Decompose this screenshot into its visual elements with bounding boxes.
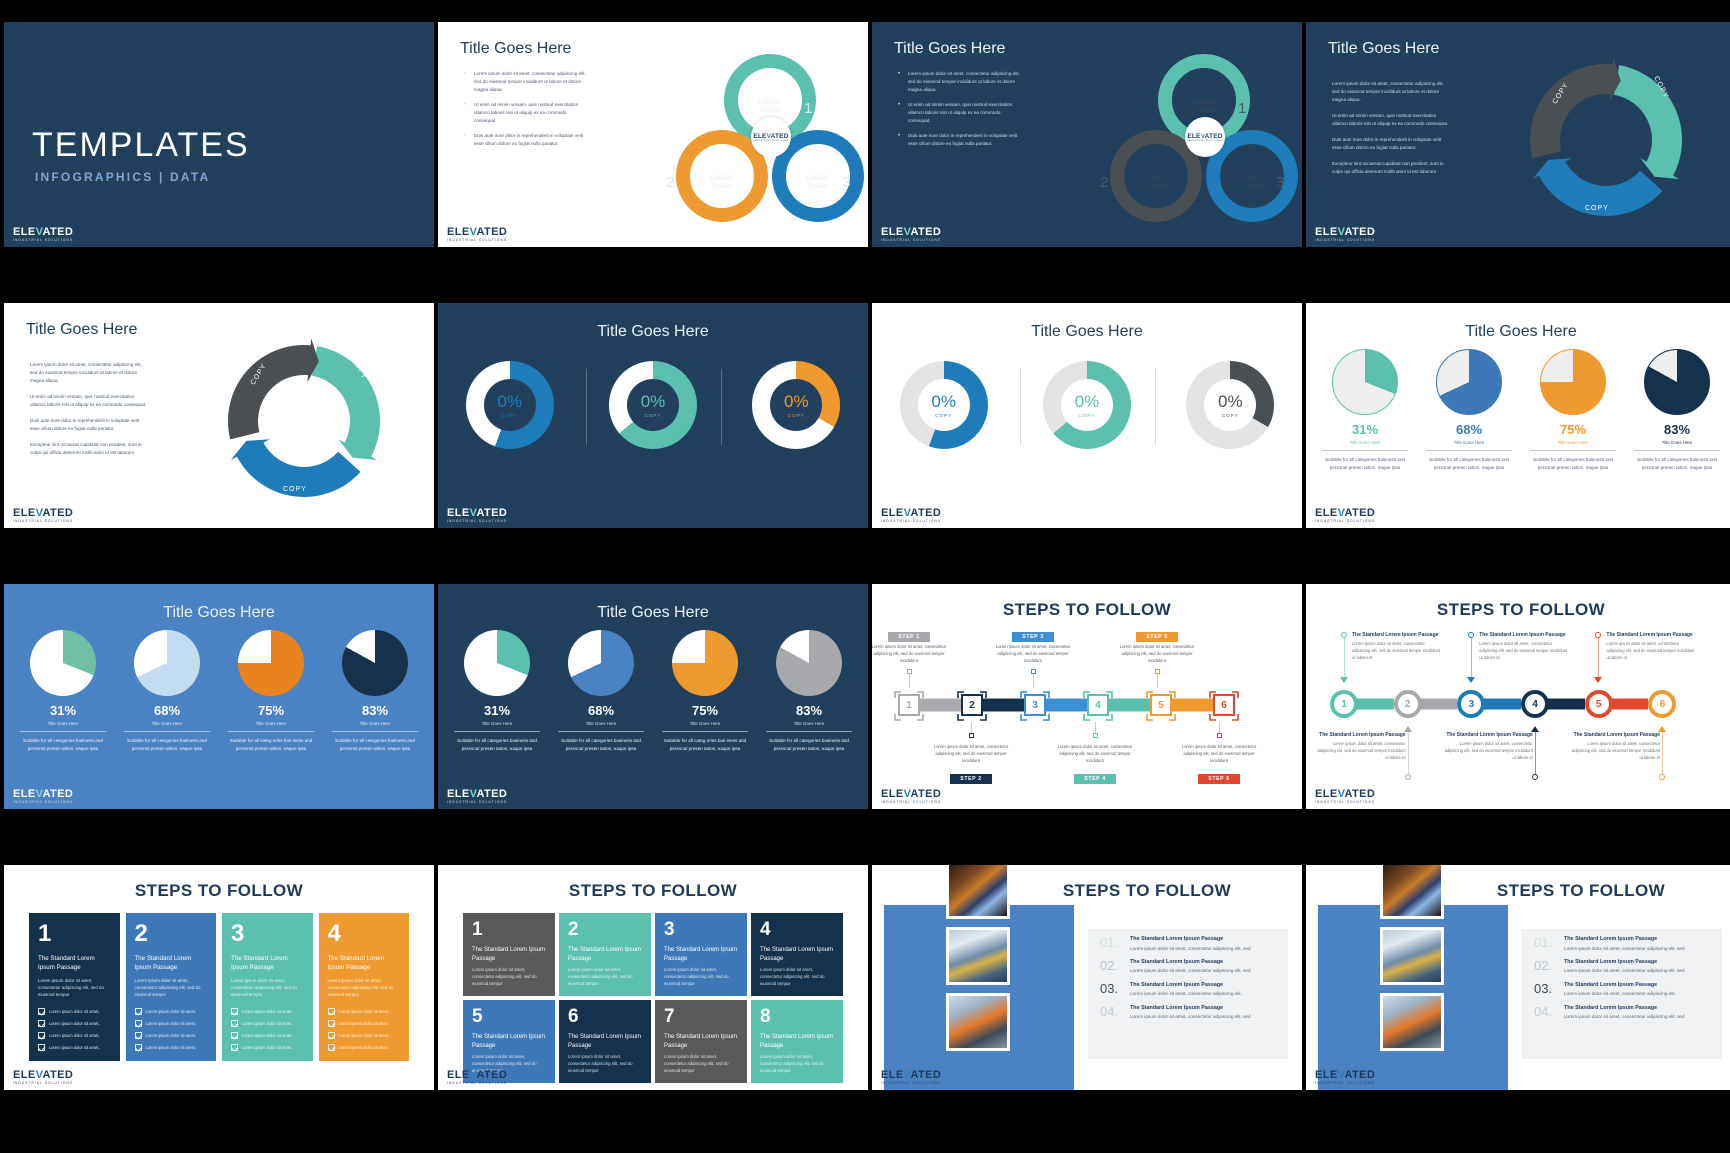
logo-tagline: INDUSTRIAL SOLUTIONS: [1315, 1082, 1375, 1085]
chain-number-4[interactable]: 4: [1087, 694, 1109, 716]
chain-link-2[interactable]: 2: [961, 693, 1024, 717]
step-dot-6: [1217, 733, 1222, 738]
block-heading-2: The Standard Lorem Ipsum Passage: [135, 955, 208, 973]
photo-step-row-2[interactable]: 02. The Standard Lorem Ipsum Passage Lor…: [1522, 952, 1722, 975]
pie-chart-1[interactable]: [464, 630, 530, 696]
pie-desc-3: Suitable for all categ ories bus iness a…: [222, 737, 320, 754]
checklist-3: Lorem ipsum dolor sit amet, Lorem ipsum …: [231, 1008, 304, 1051]
photo-step-row-3[interactable]: 03. The Standard Lorem Ipsum Passage Lor…: [1088, 975, 1288, 998]
slide-photo-steps-a[interactable]: STEPS TO FOLLOW 01. The Standard Lorem I…: [872, 865, 1302, 1090]
pie-percent-1: 31%: [14, 703, 112, 718]
step-block-8[interactable]: 8 The Standard Lorem Ipsum Passage Lorem…: [751, 1000, 843, 1083]
donut-chart-2[interactable]: 0% COPY: [1043, 361, 1131, 449]
donut-caption-2: COPY: [644, 413, 661, 418]
pie-chart-3[interactable]: [1540, 349, 1606, 415]
checklist-label-3: Lorem ipsum dolor sit amet,: [146, 1033, 197, 1038]
logo-tagline: INDUSTRIAL SOLUTIONS: [13, 239, 73, 242]
donut-caption-2: COPY: [1078, 413, 1095, 418]
pie-chart-2[interactable]: [134, 630, 200, 696]
chain-link-1[interactable]: 1: [898, 693, 961, 717]
checklist-item-1[interactable]: Lorem ipsum dolor sit amet,: [38, 1008, 111, 1015]
step-block-3[interactable]: 3 The Standard Lorem Ipsum Passage Lorem…: [222, 913, 313, 1061]
slide-venn-color[interactable]: Title Goes Here Lorem ipsum dolor sit am…: [438, 22, 868, 247]
slide-venn-mono[interactable]: Title Goes Here Lorem ipsum dolor sit am…: [872, 22, 1302, 247]
bullet-item-3: Duis aute irure dolor in reprehenderit i…: [464, 132, 589, 148]
timeline-number-5[interactable]: 5: [1585, 690, 1613, 718]
block-body-3: Lorem ipsum dolor sit amet, consectetur …: [231, 977, 304, 998]
pie-desc-1: Suitable for all categories business and…: [448, 737, 546, 754]
pie-cell-2[interactable]: 68% Title Goes Here Suitable for all cat…: [1420, 349, 1518, 473]
check-icon[interactable]: [231, 1032, 238, 1039]
donut-chart-3[interactable]: 0% COPY: [752, 361, 840, 449]
cycle-segment-3[interactable]: [228, 338, 319, 439]
step-tag-6: STEP 6: [1198, 774, 1240, 784]
pie-chart-1[interactable]: [30, 630, 96, 696]
donut-cell-3[interactable]: 0% COPY: [1176, 361, 1284, 449]
venn-ring-number-2: 2: [1100, 174, 1108, 191]
slide-pies-navy[interactable]: Title Goes Here 31% Title Goes Here Suit…: [438, 584, 868, 809]
logo-tagline: INDUSTRIAL SOLUTIONS: [1315, 239, 1375, 242]
step-body-6: Lorem ipsum dolor sit amet, consectetur …: [1178, 743, 1260, 764]
pie-cell-3[interactable]: 75% Title Goes Here Suitable for all cat…: [222, 630, 320, 754]
photo-step-number-1: 01.: [1100, 936, 1121, 952]
pie-cell-1[interactable]: 31% Title Goes Here Suitable for all cat…: [1316, 349, 1414, 473]
checklist-label-3: Lorem ipsum dolor sit amet,: [49, 1033, 100, 1038]
check-icon[interactable]: [231, 1008, 238, 1015]
photo-step-row-4[interactable]: 04. The Standard Lorem Ipsum Passage Lor…: [1522, 998, 1722, 1021]
elevated-logo: ELEVATED INDUSTRIAL SOLUTIONS: [13, 227, 73, 242]
donut-center: 0% COPY: [770, 379, 822, 431]
donut-chart-1[interactable]: 0% COPY: [466, 361, 554, 449]
checklist-item-4[interactable]: Lorem ipsum dolor sit amet,: [38, 1044, 111, 1051]
logo-check-icon: V: [904, 226, 911, 238]
pie-title-3: Title Goes Here: [656, 721, 754, 726]
block-heading-2: The Standard Lorem Ipsum Passage: [568, 946, 642, 963]
bullet-item-2: Ut enim ad minim veniam, quis nostrud ex…: [464, 101, 589, 125]
donut-center: 0% COPY: [1204, 379, 1256, 431]
pie-cell-3[interactable]: 75% Title Goes Here Suitable for all cat…: [1524, 349, 1622, 473]
elevated-logo: ELEVATED INDUSTRIAL SOLUTIONS: [881, 508, 941, 523]
timeline-stem-5: [1598, 637, 1599, 677]
checklist-label-3: Lorem ipsum dolor sit amet,: [242, 1033, 293, 1038]
logo-check-icon: V: [1338, 226, 1345, 238]
step-tag-1: STEP 1: [888, 632, 930, 642]
block-body-4: Lorem ipsum dolor sit amet, consectetur …: [328, 977, 401, 998]
photo-step-row-2[interactable]: 02. The Standard Lorem Ipsum Passage Lor…: [1088, 952, 1288, 975]
pie-cell-4[interactable]: 83% Title Goes Here Suitable for all cat…: [1628, 349, 1726, 473]
block-number-2: 2: [568, 921, 642, 939]
page-subtitle: INFOGRAPHICS | DATA: [35, 170, 210, 184]
page-title: Title Goes Here: [872, 323, 1302, 341]
photo-step-heading-3: The Standard Lorem Ipsum Passage: [1130, 982, 1242, 989]
pie-chart-4[interactable]: [342, 630, 408, 696]
chain-number-2[interactable]: 2: [961, 694, 983, 716]
page-title: Title Goes Here: [438, 323, 868, 341]
photo-step-heading-4: The Standard Lorem Ipsum Passage: [1564, 1005, 1685, 1012]
slide-donuts-dark[interactable]: Title Goes Here 0% COPY 0% COPY 0% COPY: [438, 303, 868, 528]
slide-blocks-8[interactable]: STEPS TO FOLLOW 1 The Standard Lorem Ips…: [438, 865, 868, 1090]
timeline-arrow-1: [1340, 677, 1348, 683]
donut-cell-2[interactable]: 0% COPY: [1033, 361, 1141, 449]
pie-title-1: Title Goes Here: [448, 721, 546, 726]
timeline-stem-4: [1535, 732, 1536, 774]
photo-step-number-2: 02.: [1100, 959, 1121, 975]
photo-step-body-2: Lorem ipsum dolor sit amet, consectetur …: [1564, 968, 1685, 974]
logo-check-icon: V: [1338, 507, 1345, 519]
slide-photo-steps-b[interactable]: STEPS TO FOLLOW 01. The Standard Lorem I…: [1306, 865, 1730, 1090]
pie-percent-4: 83%: [326, 703, 424, 718]
logo-wordmark: ELEVATED: [13, 789, 73, 800]
bullet-item-1: Lorem ipsum dolor sit amet, consectetur …: [464, 70, 589, 94]
photo-step-row-1[interactable]: 01. The Standard Lorem Ipsum Passage Lor…: [1522, 929, 1722, 952]
bullet-item-1: Lorem ipsum dolor sit amet, consectetur …: [898, 70, 1023, 94]
pie-title-4: Title Goes Here: [326, 721, 424, 726]
photo-step-heading-2: The Standard Lorem Ipsum Passage: [1130, 959, 1251, 966]
timeline-number-4[interactable]: 4: [1521, 690, 1549, 718]
bullet-list: Lorem ipsum dolor sit amet, consectetur …: [898, 70, 1023, 155]
logo-tagline: INDUSTRIAL SOLUTIONS: [881, 520, 941, 523]
timeline-link-4[interactable]: 4: [1521, 686, 1585, 722]
step-block-2[interactable]: 2 The Standard Lorem Ipsum Passage Lorem…: [559, 913, 651, 996]
page-title: Title Goes Here: [460, 40, 571, 58]
photo-step-number-2: 02.: [1534, 959, 1555, 975]
checklist-2: Lorem ipsum dolor sit amet, Lorem ipsum …: [135, 1008, 208, 1051]
donut-cell-3[interactable]: 0% COPY: [742, 361, 850, 449]
timeline-link-1[interactable]: 1: [1330, 686, 1394, 722]
checklist-item-4[interactable]: Lorem ipsum dolor sit amet,: [231, 1044, 304, 1051]
elevated-logo: ELEVATED INDUSTRIAL SOLUTIONS: [1315, 789, 1375, 804]
step-block-2[interactable]: 2 The Standard Lorem Ipsum Passage Lorem…: [126, 913, 217, 1061]
chain-number-6[interactable]: 6: [1213, 694, 1235, 716]
pie-chart-3[interactable]: [672, 630, 738, 696]
check-icon[interactable]: [328, 1032, 335, 1039]
venn-ring-number-2: 2: [666, 174, 674, 191]
timeline-stem-1: [1344, 637, 1345, 677]
chain-link-4[interactable]: 4: [1087, 693, 1150, 717]
pie-chart-4[interactable]: [776, 630, 842, 696]
pie-cell-2[interactable]: 68% Title Goes Here Suitable for all cat…: [118, 630, 216, 754]
logo-tagline: INDUSTRIAL SOLUTIONS: [13, 801, 73, 804]
checklist-label-4: Lorem ipsum dolor sit amet,: [146, 1045, 197, 1050]
logo-check-icon: V: [470, 788, 477, 800]
pie-divider-4: [1634, 450, 1720, 451]
elevated-logo: ELEVATED INDUSTRIAL SOLUTIONS: [1315, 1070, 1375, 1085]
timeline-link-5[interactable]: 5: [1585, 686, 1649, 722]
timeline-body-6: Lorem ipsum dolor sit amet, consectetur …: [1568, 741, 1660, 761]
pie-desc-1: Suitable for all categories business and…: [1316, 456, 1414, 473]
pie-divider-1: [1322, 450, 1408, 451]
donut-center: 0% COPY: [484, 379, 536, 431]
cycle-segment-3[interactable]: [1530, 57, 1621, 158]
check-icon[interactable]: [135, 1032, 142, 1039]
checklist-4: Lorem ipsum dolor sit amet, Lorem ipsum …: [328, 1008, 401, 1051]
donut-center: 0% COPY: [1061, 379, 1113, 431]
step-block-7[interactable]: 7 The Standard Lorem Ipsum Passage Lorem…: [655, 1000, 747, 1083]
block-grid: 1 The Standard Lorem Ipsum Passage Lorem…: [463, 913, 843, 1063]
check-icon[interactable]: [231, 1020, 238, 1027]
checklist-item-2[interactable]: Lorem ipsum dolor sit amet,: [38, 1020, 111, 1027]
timeline-number-3[interactable]: 3: [1457, 690, 1485, 718]
cycle-label-2: COPY: [1585, 205, 1609, 212]
logo-wordmark: ELEVATED: [447, 1070, 507, 1081]
timeline-number-2[interactable]: 2: [1394, 690, 1422, 718]
photo-step-body-1: Lorem ipsum dolor sit amet, consectetur …: [1130, 946, 1251, 952]
photo-step-body-3: Lorem ipsum dolor sit amet, consectetur …: [1564, 991, 1676, 997]
venn-ring-label-1: LOREMIPSUM: [1168, 100, 1240, 115]
timeline-heading-6: The Standard Lorem Ipsum Passage: [1568, 732, 1660, 739]
chain-link-5[interactable]: 5: [1150, 693, 1213, 717]
checklist-item-1[interactable]: Lorem ipsum dolor sit amet,: [135, 1008, 208, 1015]
logo-tagline: INDUSTRIAL SOLUTIONS: [881, 1082, 941, 1085]
center-brand-badge: ELEVATEDINDUSTRIAL SOLUTIONS: [751, 117, 791, 157]
slide-donuts-light[interactable]: Title Goes Here 0% COPY 0% COPY 0% COPY: [872, 303, 1302, 528]
timeline-link-6[interactable]: 6: [1648, 686, 1712, 722]
block-number-3: 3: [664, 921, 738, 939]
cycle-segment-1[interactable]: [1614, 65, 1682, 179]
page-title: STEPS TO FOLLOW: [1306, 600, 1730, 620]
check-icon[interactable]: [328, 1020, 335, 1027]
block-heading-3: The Standard Lorem Ipsum Passage: [664, 946, 738, 963]
pie-title-2: Title Goes Here: [1420, 440, 1518, 445]
checklist-item-1[interactable]: Lorem ipsum dolor sit amet,: [231, 1008, 304, 1015]
page-title: TEMPLATES: [32, 126, 250, 165]
pie-cell-3[interactable]: 75% Title Goes Here Suitable for all cat…: [656, 630, 754, 754]
pie-percent-3: 75%: [1524, 422, 1622, 437]
timeline-heading-4: The Standard Lorem Ipsum Passage: [1441, 732, 1533, 739]
step-dot-4: [1093, 733, 1098, 738]
timeline-link-2[interactable]: 2: [1394, 686, 1458, 722]
pie-percent-3: 75%: [656, 703, 754, 718]
photo-step-body-2: Lorem ipsum dolor sit amet, consectetur …: [1130, 968, 1251, 974]
welder-sparks-photo: [1380, 865, 1444, 919]
checklist-item-3[interactable]: Lorem ipsum dolor sit amet,: [135, 1032, 208, 1039]
donut-chart-3[interactable]: 0% COPY: [1186, 361, 1274, 449]
checklist-item-2[interactable]: Lorem ipsum dolor sit amet,: [135, 1020, 208, 1027]
step-block-3[interactable]: 3 The Standard Lorem Ipsum Passage Lorem…: [655, 913, 747, 996]
slide-cycle-dark[interactable]: Title Goes Here Lorem ipsum dolor sit am…: [1306, 22, 1730, 247]
logo-tagline: INDUSTRIAL SOLUTIONS: [447, 520, 507, 523]
checklist-item-4[interactable]: Lorem ipsum dolor sit amet,: [135, 1044, 208, 1051]
chain-number-5[interactable]: 5: [1150, 694, 1172, 716]
pie-desc-3: Suitable for all categ ories bus iness a…: [656, 737, 754, 754]
checklist-item-2[interactable]: Lorem ipsum dolor sit amet,: [328, 1020, 401, 1027]
checklist-item-4[interactable]: Lorem ipsum dolor sit amet,: [328, 1044, 401, 1051]
donut-cell-1[interactable]: 0% COPY: [890, 361, 998, 449]
photo-step-heading-2: The Standard Lorem Ipsum Passage: [1564, 959, 1685, 966]
pie-cell-2[interactable]: 68% Title Goes Here Suitable for all cat…: [552, 630, 650, 754]
pie-chart-1[interactable]: [1332, 349, 1398, 415]
checklist-item-3[interactable]: Lorem ipsum dolor sit amet,: [328, 1032, 401, 1039]
pie-divider-1: [454, 731, 540, 732]
pie-cell-4[interactable]: 83% Title Goes Here Suitable for all cat…: [760, 630, 858, 754]
page-title: STEPS TO FOLLOW: [438, 881, 868, 901]
chain-number-1[interactable]: 1: [898, 694, 920, 716]
checklist-1: Lorem ipsum dolor sit amet, Lorem ipsum …: [38, 1008, 111, 1051]
photo-step-row-4[interactable]: 04. The Standard Lorem Ipsum Passage Lor…: [1088, 998, 1288, 1021]
donut-value-1: 0%: [931, 393, 956, 410]
timeline-text-4: The Standard Lorem Ipsum Passage Lorem i…: [1441, 732, 1533, 761]
logo-wordmark: ELEVATED: [447, 789, 507, 800]
timeline-stem-2: [1408, 732, 1409, 774]
checklist-item-3[interactable]: Lorem ipsum dolor sit amet,: [38, 1032, 111, 1039]
slide-blocks-4[interactable]: STEPS TO FOLLOW 1 The Standard Lorem Ips…: [4, 865, 434, 1090]
logo-wordmark: ELEVATED: [1315, 789, 1375, 800]
step-block-1[interactable]: 1 The Standard Lorem Ipsum Passage Lorem…: [463, 913, 555, 996]
block-number-3: 3: [231, 923, 304, 946]
pie-chart-3[interactable]: [238, 630, 304, 696]
logo-check-icon: V: [36, 788, 43, 800]
step-tag-3: STEP 3: [1012, 632, 1054, 642]
center-brand-badge: ELEVATEDINDUSTRIAL SOLUTIONS: [1185, 117, 1225, 157]
block-body-1: Lorem ipsum dolor sit amet, consectetur …: [38, 977, 111, 998]
block-body-6: Lorem ipsum dolor sit amet, consectetur …: [568, 1054, 642, 1075]
check-icon[interactable]: [231, 1044, 238, 1051]
step-stem-5: [1157, 674, 1158, 688]
pie-title-1: Title Goes Here: [1316, 440, 1414, 445]
step-block-4[interactable]: 4 The Standard Lorem Ipsum Passage Lorem…: [751, 913, 843, 996]
check-icon[interactable]: [135, 1008, 142, 1015]
photo-stack: [946, 865, 1010, 1059]
check-icon[interactable]: [38, 1020, 45, 1027]
donut-value-3: 0%: [784, 393, 809, 410]
checklist-label-4: Lorem ipsum dolor sit amet,: [49, 1045, 100, 1050]
step-body-3: Lorem ipsum dolor sit amet, consectetur …: [992, 643, 1074, 664]
photo-step-body-1: Lorem ipsum dolor sit amet, consectetur …: [1564, 946, 1685, 952]
step-body-5: Lorem ipsum dolor sit amet, consectetur …: [1116, 643, 1198, 664]
check-icon[interactable]: [135, 1020, 142, 1027]
bullet-list: Lorem ipsum dolor sit amet, consectetur …: [464, 70, 589, 155]
slide-cycle-light[interactable]: Title Goes Here Lorem ipsum dolor sit am…: [4, 303, 434, 528]
checklist-label-2: Lorem ipsum dolor sit amet,: [339, 1021, 390, 1026]
timeline-link-3[interactable]: 3: [1457, 686, 1521, 722]
timeline-body-3: Lorem ipsum dolor sit amet, consectetur …: [1479, 641, 1571, 661]
divider-2: [1155, 369, 1156, 445]
timeline-heading-2: The Standard Lorem Ipsum Passage: [1314, 732, 1406, 739]
check-icon[interactable]: [328, 1044, 335, 1051]
donut-cell-2[interactable]: 0% COPY: [599, 361, 707, 449]
logo-tagline: INDUSTRIAL SOLUTIONS: [13, 520, 73, 523]
donut-chart-1[interactable]: 0% COPY: [900, 361, 988, 449]
donut-chart-2[interactable]: 0% COPY: [609, 361, 697, 449]
checklist-item-2[interactable]: Lorem ipsum dolor sit amet,: [231, 1020, 304, 1027]
logo-tagline: INDUSTRIAL SOLUTIONS: [13, 1082, 73, 1085]
venn-ring-number-1: 1: [1238, 100, 1246, 117]
cycle-segment-1[interactable]: [312, 346, 380, 460]
photo-step-number-4: 04.: [1534, 1005, 1555, 1021]
pie-desc-3: Suitable for all categories business and…: [1524, 456, 1622, 473]
slide-steps-chain[interactable]: STEPS TO FOLLOW 1 2 3: [872, 584, 1302, 809]
slide-cover[interactable]: TEMPLATES INFOGRAPHICS | DATA ELEVATED I…: [4, 22, 434, 247]
checklist-item-1[interactable]: Lorem ipsum dolor sit amet,: [328, 1008, 401, 1015]
step-block-6[interactable]: 6 The Standard Lorem Ipsum Passage Lorem…: [559, 1000, 651, 1083]
timeline-heading-1: The Standard Lorem Ipsum Passage: [1352, 632, 1444, 639]
pie-cell-1[interactable]: 31% Title Goes Here Suitable for all cat…: [448, 630, 546, 754]
pie-chart-4[interactable]: [1644, 349, 1710, 415]
check-icon[interactable]: [135, 1044, 142, 1051]
timeline-body-4: Lorem ipsum dolor sit amet, consectetur …: [1441, 741, 1533, 761]
elevated-logo: ELEVATED INDUSTRIAL SOLUTIONS: [1315, 227, 1375, 242]
block-number-2: 2: [135, 923, 208, 946]
timeline-text-3: The Standard Lorem Ipsum Passage Lorem i…: [1479, 632, 1571, 661]
pie-desc-2: Suitable for all categories business and…: [552, 737, 650, 754]
checklist-label-2: Lorem ipsum dolor sit amet,: [49, 1021, 100, 1026]
pie-cell-1[interactable]: 31% Title Goes Here Suitable for all cat…: [14, 630, 112, 754]
elevated-logo: ELEVATED INDUSTRIAL SOLUTIONS: [447, 1070, 507, 1085]
timeline-ring-2: [1405, 774, 1411, 780]
timeline-ring-4: [1532, 774, 1538, 780]
checklist-label-4: Lorem ipsum dolor sit amet,: [339, 1045, 390, 1050]
venn-ring-label-2: LOREMIPSUM: [686, 176, 758, 191]
logo-wordmark: ELEVATED: [881, 1070, 941, 1081]
chain-link-3[interactable]: 3: [1024, 693, 1087, 717]
logo-wordmark: ELEVATED: [13, 1070, 73, 1081]
logo-wordmark: ELEVATED: [881, 789, 941, 800]
donut-value-3: 0%: [1218, 393, 1243, 410]
pie-chart-2[interactable]: [568, 630, 634, 696]
donut-center: 0% COPY: [918, 379, 970, 431]
logo-tagline: INDUSTRIAL SOLUTIONS: [447, 801, 507, 804]
page-title: Title Goes Here: [4, 604, 434, 622]
pie-chart-2[interactable]: [1436, 349, 1502, 415]
timeline-number-6[interactable]: 6: [1648, 690, 1676, 718]
pie-percent-2: 68%: [1420, 422, 1518, 437]
checklist-item-3[interactable]: Lorem ipsum dolor sit amet,: [231, 1032, 304, 1039]
donut-value-2: 0%: [1075, 393, 1100, 410]
donut-cell-1[interactable]: 0% COPY: [456, 361, 564, 449]
elevated-logo: ELEVATED INDUSTRIAL SOLUTIONS: [447, 789, 507, 804]
page-title: Title Goes Here: [1306, 323, 1730, 341]
elevated-logo: ELEVATED INDUSTRIAL SOLUTIONS: [1315, 508, 1375, 523]
two-engineers-hardhats-photo: [946, 927, 1010, 985]
slide-steps-timeline[interactable]: STEPS TO FOLLOW 1 2 3 4 5 6 The Standard…: [1306, 584, 1730, 809]
block-body-3: Lorem ipsum dolor sit amet, consectetur …: [664, 967, 738, 988]
block-heading-3: The Standard Lorem Ipsum Passage: [231, 955, 304, 973]
check-icon[interactable]: [38, 1032, 45, 1039]
timeline-number-1[interactable]: 1: [1330, 690, 1358, 718]
pie-cell-4[interactable]: 83% Title Goes Here Suitable for all cat…: [326, 630, 424, 754]
page-title: Title Goes Here: [894, 40, 1005, 58]
pie-desc-2: Suitable for all categories business and…: [118, 737, 216, 754]
photo-step-row-3[interactable]: 03. The Standard Lorem Ipsum Passage Lor…: [1522, 975, 1722, 998]
step-block-4[interactable]: 4 The Standard Lorem Ipsum Passage Lorem…: [319, 913, 410, 1061]
check-icon[interactable]: [328, 1008, 335, 1015]
logo-check-icon: V: [904, 788, 911, 800]
photo-step-heading-1: The Standard Lorem Ipsum Passage: [1130, 936, 1251, 943]
venn-ring-number-3: 3: [842, 174, 850, 191]
logo-tagline: INDUSTRIAL SOLUTIONS: [1315, 520, 1375, 523]
step-tag-4: STEP 4: [1074, 774, 1116, 784]
pie-row: 31% Title Goes Here Suitable for all cat…: [14, 630, 424, 754]
chain-link-6[interactable]: 6: [1213, 693, 1276, 717]
check-icon[interactable]: [38, 1008, 45, 1015]
logo-wordmark: ELEVATED: [881, 508, 941, 519]
slide-pies-blue[interactable]: Title Goes Here 31% Title Goes Here Suit…: [4, 584, 434, 809]
pie-percent-2: 68%: [118, 703, 216, 718]
photo-step-body-4: Lorem ipsum dolor sit amet, consectetur …: [1130, 1014, 1251, 1020]
timeline-text-2: The Standard Lorem Ipsum Passage Lorem i…: [1314, 732, 1406, 761]
logo-tagline: INDUSTRIAL SOLUTIONS: [447, 1082, 507, 1085]
slide-pies-white[interactable]: Title Goes Here 31% Title Goes Here Suit…: [1306, 303, 1730, 528]
check-icon[interactable]: [38, 1044, 45, 1051]
pie-divider-2: [1426, 450, 1512, 451]
chain-number-3[interactable]: 3: [1024, 694, 1046, 716]
step-block-1[interactable]: 1 The Standard Lorem Ipsum Passage Lorem…: [29, 913, 120, 1061]
cycle-label-2: COPY: [283, 486, 307, 493]
photo-step-row-1[interactable]: 01. The Standard Lorem Ipsum Passage Lor…: [1088, 929, 1288, 952]
photo-step-heading-4: The Standard Lorem Ipsum Passage: [1130, 1005, 1251, 1012]
cycle-diagram: [4, 303, 434, 528]
block-body-7: Lorem ipsum dolor sit amet, consectetur …: [664, 1054, 738, 1075]
